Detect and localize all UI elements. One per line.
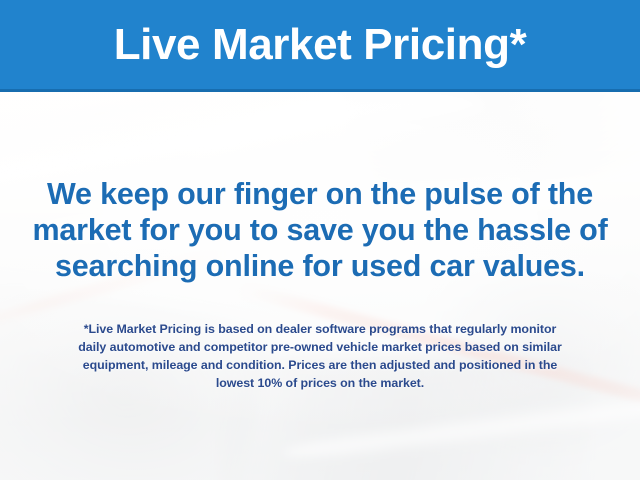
disclaimer-line: daily automotive and competitor pre-owne… <box>24 338 616 356</box>
slide-body: We keep our finger on the pulse of the m… <box>0 92 640 480</box>
headline-line: searching online for used car values. <box>18 248 622 284</box>
page-title: Live Market Pricing* <box>114 23 527 69</box>
disclaimer-line: *Live Market Pricing is based on dealer … <box>24 320 616 338</box>
live-market-pricing-slide: Live Market Pricing* We keep our finger … <box>0 0 640 480</box>
headline: We keep our finger on the pulse of the m… <box>18 176 622 284</box>
header-bar: Live Market Pricing* <box>0 0 640 92</box>
headline-line: We keep our finger on the pulse of the <box>18 176 622 212</box>
disclaimer-footnote: *Live Market Pricing is based on dealer … <box>24 320 616 392</box>
disclaimer-line: lowest 10% of prices on the market. <box>24 374 616 392</box>
disclaimer-line: equipment, mileage and condition. Prices… <box>24 356 616 374</box>
headline-line: market for you to save you the hassle of <box>18 212 622 248</box>
